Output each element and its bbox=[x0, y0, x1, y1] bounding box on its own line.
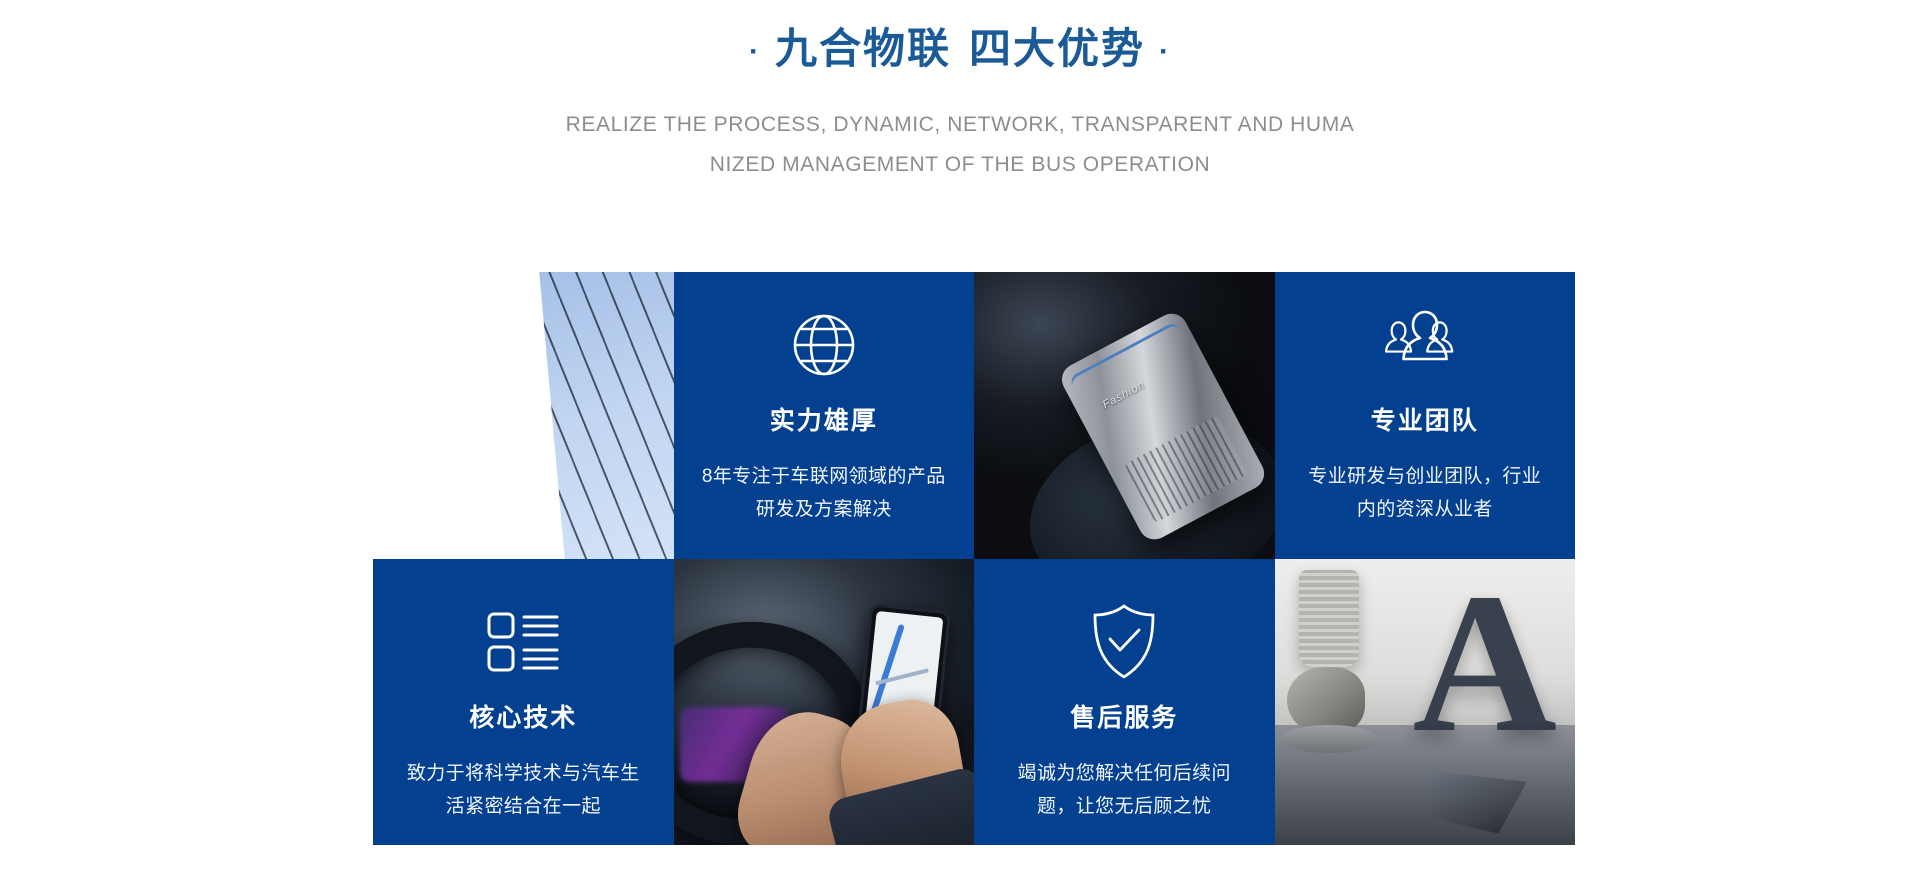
title-text-secondary: 四大优势 bbox=[969, 25, 1145, 72]
advantage-description: 竭诚为您解决任何后续问题，让您无后顾之忧 bbox=[998, 757, 1250, 823]
title-bullet-left: · bbox=[735, 35, 775, 68]
advantage-card-team[interactable]: 专业团队 专业研发与创业团队，行业内的资深从业者 bbox=[1275, 272, 1576, 559]
glass-skyscraper-upward-view-image bbox=[373, 272, 674, 559]
subtitle-line-1: REALIZE THE PROCESS, DYNAMIC, NETWORK, T… bbox=[0, 105, 1920, 145]
driver-steering-wheel-phone-map-image bbox=[674, 559, 975, 846]
advantage-title: 实力雄厚 bbox=[770, 404, 878, 438]
advantage-title: 核心技术 bbox=[469, 701, 577, 735]
list-blocks-icon bbox=[486, 599, 560, 685]
team-people-icon bbox=[1383, 302, 1467, 388]
lobby-letter-glyph: A bbox=[1413, 564, 1557, 764]
globe-icon bbox=[786, 302, 862, 388]
heading-block: ·九合物联四大优势· REALIZE THE PROCESS, DYNAMIC,… bbox=[0, 22, 1920, 185]
advantage-card-after-sales[interactable]: 售后服务 竭诚为您解决任何后续问题，让您无后顾之忧 bbox=[974, 559, 1275, 846]
decor-pedestal-shape bbox=[1281, 725, 1377, 754]
title-bullet-right: · bbox=[1145, 35, 1185, 68]
advantage-title: 专业团队 bbox=[1371, 404, 1479, 438]
grid-cell-photo-device: Fashion bbox=[974, 272, 1275, 559]
decor-vase-shape bbox=[1299, 570, 1359, 667]
feature-advantages-page: ·九合物联四大优势· REALIZE THE PROCESS, DYNAMIC,… bbox=[0, 0, 1920, 894]
shield-check-icon bbox=[1089, 599, 1159, 685]
advantage-title: 售后服务 bbox=[1070, 701, 1178, 735]
page-subtitle: REALIZE THE PROCESS, DYNAMIC, NETWORK, T… bbox=[0, 105, 1920, 185]
subtitle-line-2: NIZED MANAGEMENT OF THE BUS OPERATION bbox=[0, 145, 1920, 185]
grid-cell-photo-building bbox=[373, 272, 674, 559]
grid-cell-photo-driving bbox=[674, 559, 975, 846]
title-text-primary: 九合物联 bbox=[775, 25, 951, 72]
advantage-card-core-tech[interactable]: 核心技术 致力于将科学技术与汽车生活紧密结合在一起 bbox=[373, 559, 674, 846]
office-lobby-letter-a-image: A bbox=[1275, 559, 1576, 846]
advantage-description: 致力于将科学技术与汽车生活紧密结合在一起 bbox=[397, 757, 649, 823]
advantage-description: 专业研发与创业团队，行业内的资深从业者 bbox=[1299, 460, 1551, 526]
car-interior-obd-device-image: Fashion bbox=[974, 272, 1275, 559]
page-title: ·九合物联四大优势· bbox=[0, 22, 1920, 79]
advantages-grid: 实力雄厚 8年专注于车联网领域的产品研发及方案解决 Fashion 专业团队 专… bbox=[373, 272, 1575, 845]
advantage-card-strength[interactable]: 实力雄厚 8年专注于车联网领域的产品研发及方案解决 bbox=[674, 272, 975, 559]
advantage-description: 8年专注于车联网领域的产品研发及方案解决 bbox=[698, 460, 950, 526]
grid-cell-photo-lobby: A bbox=[1275, 559, 1576, 846]
